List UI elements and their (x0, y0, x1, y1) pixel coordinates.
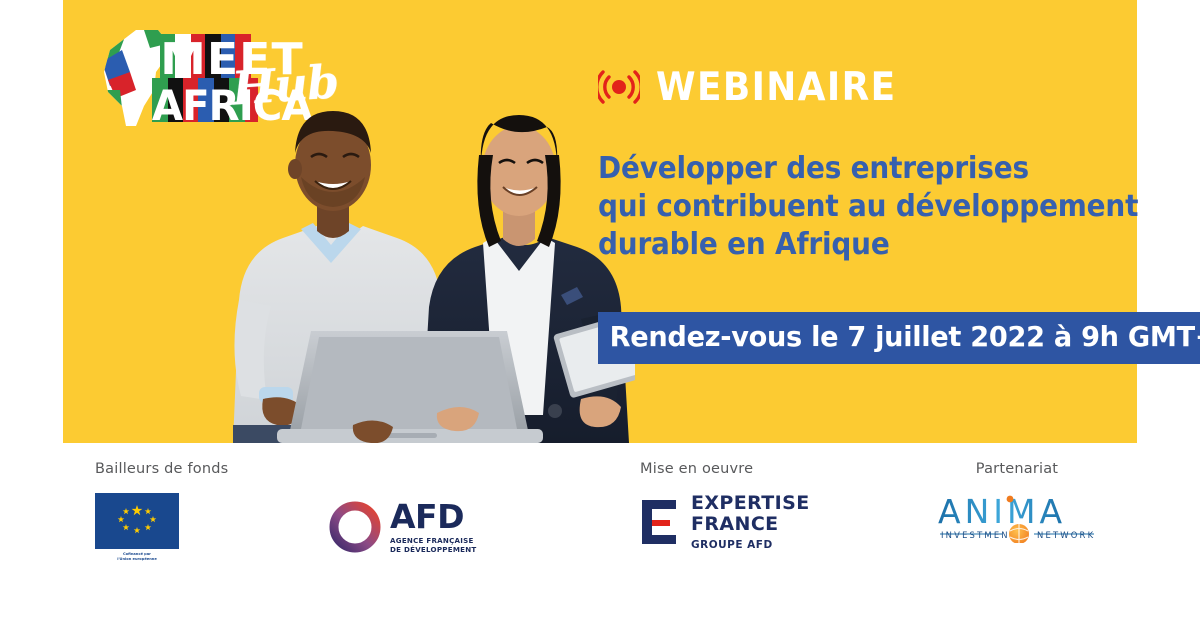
hero-text-column: WEBINAIRE Développer des entreprises qui… (598, 62, 1143, 264)
footer-caption-partnership: Partenariat (938, 461, 1096, 477)
broadcast-live-icon (598, 70, 640, 104)
webinar-banner: MEET AFRICA Hub (0, 0, 1200, 628)
afd-logo: AFD AGENCE FRANÇAISE DE DÉVELOPPEMENT (329, 500, 477, 555)
hero-photo (215, 95, 635, 443)
webinaire-row: WEBINAIRE (598, 62, 1143, 112)
anima-subtext-right: NETWORK (1037, 530, 1095, 540)
footer-caption-implementation: Mise en oeuvre (640, 461, 810, 477)
footer-group-implementation: Mise en oeuvre EXPERTISE FRANCE GROUPE A… (640, 461, 810, 550)
afd-subtext-line-1: AGENCE FRANÇAISE (390, 536, 477, 546)
webinaire-label: WEBINAIRE (656, 68, 896, 107)
headline-line-2: qui contribuent au développement (598, 188, 1105, 226)
footer-group-partnership: Partenariat (938, 461, 1096, 543)
headline-line-1: Développer des entreprises (598, 150, 1105, 188)
expertise-france-word-2: FRANCE (691, 514, 810, 535)
footer-caption-funders: Bailleurs de fonds (95, 461, 477, 477)
expertise-france-mark-icon (640, 498, 680, 546)
afd-subtext-line-2: DE DÉVELOPPEMENT (390, 545, 477, 555)
footer: Bailleurs de fonds (0, 443, 1200, 628)
expertise-france-subtext: GROUPE AFD (691, 540, 810, 551)
anima-wordmark: ANIMA (938, 493, 1066, 531)
footer-group-funders: Bailleurs de fonds (95, 461, 477, 562)
anima-investment-network-logo: ANIMA INVESTMENT NETWORK (938, 493, 1096, 543)
headline: Développer des entreprises qui contribue… (598, 150, 1105, 264)
afd-wordmark: AFD (390, 500, 477, 533)
expertise-france-logo: EXPERTISE FRANCE GROUPE AFD (640, 493, 810, 550)
eu-subtext-line-2: l'Union européenne (95, 557, 179, 562)
expertise-france-word-1: EXPERTISE (691, 493, 810, 514)
european-union-flag: Cofinancé par l'Union européenne (95, 493, 179, 562)
date-band: Rendez-vous le 7 juillet 2022 à 9h GMT+0 (598, 312, 1200, 364)
headline-line-3: durable en Afrique (598, 226, 1105, 264)
anima-subtext-left: INVESTMENT (941, 530, 1017, 540)
afd-ring-icon (329, 501, 381, 553)
